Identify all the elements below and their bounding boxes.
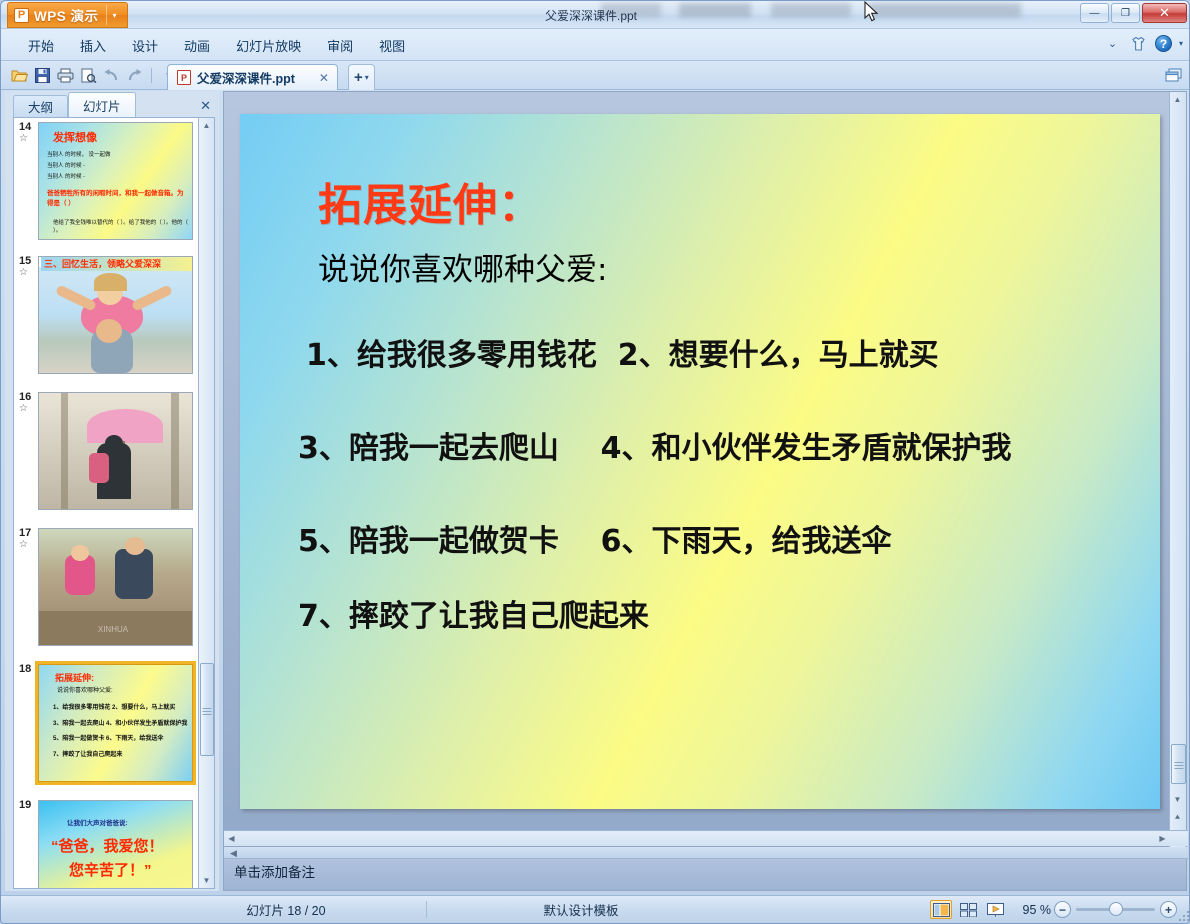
slide-navigation-panel: 大纲 幻灯片 ✕ 14 ☆ 发挥想像 当别人 的时候， 没一起做	[5, 91, 219, 891]
slide-line-3: 5、陪我一起做贺卡 6、下雨天，给我送伞	[298, 525, 1160, 558]
collapse-ribbon-icon[interactable]: ⌄	[1103, 34, 1122, 53]
view-normal[interactable]	[930, 900, 952, 919]
document-tab-active[interactable]: P 父爱深深课件.ppt ✕	[167, 64, 338, 90]
close-icon[interactable]: ✕	[319, 71, 329, 85]
slide-editing-area: 拓展延伸： 说说你喜欢哪种父爱: 1、给我很多零用钱花 2、想要什么，马上就买 …	[223, 91, 1187, 847]
scroll-up-icon[interactable]: ▲	[199, 118, 214, 133]
photo-father-daughter	[39, 267, 193, 373]
list-item[interactable]: 18 拓展延伸: 说说你喜欢哪种父爱: 1、给我很多零用钱花 2、想要什么，马上…	[14, 658, 199, 782]
wps-presentation-window: 父爱深深课件.ppt P WPS 演示 ▾ — ❐ ✕ 开始 插入 设计 动画 …	[0, 0, 1190, 924]
zoom-in-button[interactable]: +	[1160, 901, 1177, 918]
thumbnail-number: 16 ☆	[16, 392, 38, 414]
mouse-cursor	[864, 1, 880, 23]
menu-start[interactable]: 开始	[15, 32, 67, 59]
zoom-level: 95 %	[1023, 903, 1052, 917]
tab-outline[interactable]: 大纲	[13, 95, 68, 117]
scroll-down-icon[interactable]: ▼	[199, 873, 214, 888]
thumb-small-block: 他给了我全钱唯以替代的（ ）。给了我他的（ ）。他的（ ）。	[53, 219, 189, 236]
thumb-title: 发挥想像	[53, 129, 97, 145]
menu-animation[interactable]: 动画	[171, 32, 223, 59]
print-preview-icon[interactable]	[78, 65, 99, 86]
zoom-slider-control[interactable]: − +	[1054, 901, 1177, 918]
maximize-button[interactable]: ❐	[1111, 3, 1140, 23]
close-panel-icon[interactable]: ✕	[200, 98, 211, 114]
thumb-title: 拓展延伸:	[55, 671, 94, 684]
design-template-name: 默认设计模板	[431, 900, 731, 919]
previous-slide-icon[interactable]: ⯅	[1170, 810, 1185, 825]
wps-presentation-icon: P	[14, 8, 29, 23]
zoom-out-button[interactable]: −	[1054, 901, 1071, 918]
collapse-notes-icon[interactable]: ◀	[230, 848, 237, 859]
minimize-button[interactable]: —	[1080, 3, 1109, 23]
thumbnail-number: 14 ☆	[16, 122, 38, 144]
help-icon[interactable]: ?	[1155, 35, 1172, 52]
scroll-left-icon[interactable]: ◀	[224, 831, 239, 846]
thumbnail-number: 19	[16, 800, 38, 812]
thumbnail-number: 18	[16, 664, 38, 676]
slide-horizontal-scrollbar[interactable]: ◀ ▶	[224, 830, 1188, 846]
plus-icon: +	[354, 69, 363, 86]
menu-bar: 开始 插入 设计 动画 幻灯片放映 审阅 视图 ⌄ ? ▾	[1, 29, 1190, 61]
restore-panel-icon[interactable]	[1165, 67, 1183, 83]
thumb-red-block: 爸爸牺牲所有的闲暇时间，和我一起做音箱。为得是（ ）	[47, 189, 189, 209]
chevron-down-icon[interactable]: ▾	[365, 73, 369, 82]
slide-line-4: 7、摔跤了让我自己爬起来	[298, 600, 1160, 633]
slide-counter: 幻灯片 18 / 20	[151, 900, 421, 919]
list-item[interactable]: 17 ☆ XINHUA	[14, 522, 199, 646]
thumb-big-line-1: “爸爸，我爱您！	[51, 835, 164, 856]
notes-splitter[interactable]: ◀	[224, 847, 1188, 859]
panel-tabs: 大纲 幻灯片 ✕	[5, 91, 219, 117]
tab-slides[interactable]: 幻灯片	[68, 92, 136, 117]
thumb-big-line-2: 您辛苦了！”	[69, 859, 152, 880]
animation-star-icon: ☆	[19, 268, 38, 279]
title-bar: 父爱深深课件.ppt P WPS 演示 ▾ — ❐ ✕	[1, 1, 1190, 29]
window-title: 父爱深深课件.ppt	[1, 1, 1190, 29]
skin-icon[interactable]	[1129, 34, 1148, 53]
window-controls: — ❐ ✕	[1080, 3, 1187, 23]
animation-star-icon: ☆	[19, 404, 38, 415]
slide-line-2: 3、陪我一起去爬山 4、和小伙伴发生矛盾就保护我	[298, 432, 1160, 465]
thumbnail-scrollbar[interactable]: ▲ ▼	[198, 118, 214, 888]
document-tab-label: 父爱深深课件.ppt	[197, 68, 295, 87]
list-item[interactable]: 15 ☆ 三、回	[14, 250, 199, 374]
zoom-slider-track[interactable]	[1076, 908, 1155, 911]
new-tab-button[interactable]: + ▾	[348, 64, 375, 90]
scrollbar-thumb[interactable]	[200, 663, 214, 756]
thumb-title-bar: 三、回忆生活，领略父爱深深	[41, 257, 192, 271]
view-buttons	[930, 900, 1006, 919]
zoom-slider-thumb[interactable]	[1109, 902, 1123, 916]
thumbnail-slide-17[interactable]: XINHUA	[38, 528, 193, 646]
thumb-title: 让我们大声对爸爸说:	[67, 817, 128, 827]
thumbnail-number: 17 ☆	[16, 528, 38, 550]
thumbnail-slide-19[interactable]: 让我们大声对爸爸说: “爸爸，我爱您！ 您辛苦了！”	[38, 800, 193, 889]
scroll-up-icon[interactable]: ▲	[1170, 92, 1185, 107]
view-sorter[interactable]	[957, 900, 979, 919]
scroll-right-icon[interactable]: ▶	[1155, 831, 1170, 846]
thumb-body: 当别人 的时候， 没一起做 当别人 的时候 - 当别人 的时候 -	[47, 150, 187, 183]
slide-title[interactable]: 拓展延伸：	[318, 169, 543, 233]
thumbnail-list[interactable]: 14 ☆ 发挥想像 当别人 的时候， 没一起做 当别人 的时候 - 当别人	[13, 117, 215, 889]
list-item[interactable]: 19 让我们大声对爸爸说: “爸爸，我爱您！ 您辛苦了！”	[14, 794, 199, 889]
thumb-subtitle: 说说你喜欢哪种父爱:	[57, 685, 113, 694]
slide-subtitle[interactable]: 说说你喜欢哪种父爱:	[318, 244, 607, 289]
thumbnail-number: 15 ☆	[16, 256, 38, 278]
print-icon[interactable]	[55, 65, 76, 86]
status-divider	[426, 901, 427, 918]
menu-items: 开始 插入 设计 动画 幻灯片放映 审阅 视图	[1, 29, 1190, 61]
slide-vertical-scrollbar[interactable]: ▲ ▼ ⯅ ⯆	[1169, 92, 1186, 848]
animation-star-icon: ☆	[19, 540, 38, 551]
thumbnail-scroll-content: 14 ☆ 发挥想像 当别人 的时候， 没一起做 当别人 的时候 - 当别人	[14, 118, 199, 888]
thumb-body: 1、给我很多零用钱花 2、想要什么，马上就买 3、陪我一起去爬山 4、和小伙伴发…	[53, 701, 191, 763]
scrollbar-thumb[interactable]	[1171, 744, 1186, 784]
thumbnail-slide-14[interactable]: 发挥想像 当别人 的时候， 没一起做 当别人 的时候 - 当别人 的时候 -	[38, 122, 193, 240]
current-slide[interactable]: 拓展延伸： 说说你喜欢哪种父爱: 1、给我很多零用钱花 2、想要什么，马上就买 …	[240, 114, 1160, 809]
chevron-down-icon[interactable]: ▾	[106, 5, 123, 25]
more-options-caret-icon[interactable]: ▾	[1179, 39, 1183, 48]
menu-review[interactable]: 审阅	[314, 32, 366, 59]
animation-star-icon: ☆	[19, 134, 38, 145]
menu-slideshow[interactable]: 幻灯片放映	[223, 32, 314, 59]
slide-line-1: 1、给我很多零用钱花 2、想要什么，马上就买	[298, 339, 1160, 372]
undo-icon[interactable]	[101, 65, 122, 86]
menu-design[interactable]: 设计	[119, 32, 171, 59]
slide-body-text[interactable]: 1、给我很多零用钱花 2、想要什么，马上就买 3、陪我一起去爬山 4、和小伙伴发…	[298, 339, 1160, 633]
menubar-right-tools: ⌄ ? ▾	[1103, 34, 1183, 53]
notes-placeholder[interactable]: 单击添加备注	[234, 861, 315, 881]
thumb-title: 三、回忆生活，领略父爱深深	[41, 257, 192, 271]
qat-separator	[151, 68, 152, 83]
wps-brand-tab[interactable]: P WPS 演示 ▾	[7, 2, 128, 28]
thumbnail-slide-18[interactable]: 拓展延伸: 说说你喜欢哪种父爱: 1、给我很多零用钱花 2、想要什么，马上就买 …	[38, 664, 193, 782]
notes-pane[interactable]: ◀ 单击添加备注	[223, 847, 1187, 891]
view-slideshow[interactable]	[984, 900, 1006, 919]
thumbnail-slide-16[interactable]	[38, 392, 193, 510]
open-icon[interactable]	[9, 65, 30, 86]
redo-icon[interactable]	[124, 65, 145, 86]
scroll-down-icon[interactable]: ▼	[1170, 792, 1185, 807]
menu-insert[interactable]: 插入	[67, 32, 119, 59]
save-icon[interactable]	[32, 65, 53, 86]
ppt-file-icon: P	[177, 70, 191, 85]
menu-view[interactable]: 视图	[366, 32, 418, 59]
brand-label: WPS 演示	[34, 5, 99, 25]
thumbnail-slide-15[interactable]: 三、回忆生活，领略父爱深深	[38, 256, 193, 374]
list-item[interactable]: 16 ☆	[14, 386, 199, 510]
list-item[interactable]: 14 ☆ 发挥想像 当别人 的时候， 没一起做 当别人 的时候 - 当别人	[14, 117, 199, 240]
document-tab-bar: ▾ P 父爱深深课件.ppt ✕ + ▾	[1, 61, 1190, 90]
close-button[interactable]: ✕	[1142, 3, 1187, 23]
status-bar: 幻灯片 18 / 20 默认设计模板	[1, 895, 1190, 923]
